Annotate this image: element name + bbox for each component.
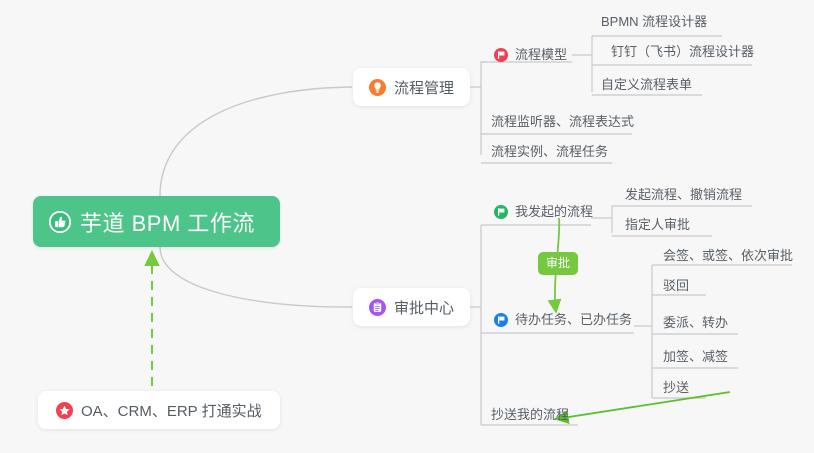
flag-icon [494, 48, 508, 62]
node-label: 我发起的流程 [515, 203, 593, 220]
node-todo-done-tasks[interactable]: 待办任务、已办任务 [494, 311, 632, 328]
node-label: 流程模型 [515, 46, 567, 63]
node-process-instance[interactable]: 流程实例、流程任务 [491, 143, 608, 160]
node-cc[interactable]: 抄送 [663, 379, 689, 396]
branch-approval-center[interactable]: 审批中心 [353, 288, 470, 326]
node-bpmn-designer[interactable]: BPMN 流程设计器 [601, 13, 707, 30]
approval-tag: 审批 [538, 252, 578, 275]
node-add-remove-sign[interactable]: 加签、减签 [663, 348, 728, 365]
branch-label: 流程管理 [394, 77, 454, 98]
callout-label: OA、CRM、ERP 打通实战 [81, 400, 262, 421]
callout-integration[interactable]: OA、CRM、ERP 打通实战 [38, 391, 280, 429]
thumbs-up-icon [49, 211, 71, 233]
node-start-cancel-process[interactable]: 发起流程、撤销流程 [625, 186, 742, 203]
root-node[interactable]: 芋道 BPM 工作流 [33, 196, 280, 247]
flag-icon [494, 205, 508, 219]
node-custom-form[interactable]: 自定义流程表单 [601, 76, 692, 93]
node-reject[interactable]: 驳回 [663, 277, 689, 294]
node-label: 待办任务、已办任务 [515, 311, 632, 328]
node-my-initiated[interactable]: 我发起的流程 [494, 203, 593, 220]
node-dingtalk-designer[interactable]: 钉钉（飞书）流程设计器 [611, 43, 754, 60]
document-icon [369, 299, 386, 316]
node-process-model[interactable]: 流程模型 [494, 46, 567, 63]
node-delegate-transfer[interactable]: 委派、转办 [663, 314, 728, 331]
root-label: 芋道 BPM 工作流 [80, 206, 255, 238]
branch-label: 审批中心 [394, 297, 454, 318]
flag-icon [494, 313, 508, 327]
node-cc-to-me[interactable]: 抄送我的流程 [491, 406, 569, 423]
node-countersign[interactable]: 会签、或签、依次审批 [663, 247, 793, 264]
star-icon [56, 402, 73, 419]
node-process-listener[interactable]: 流程监听器、流程表达式 [491, 113, 634, 130]
mindmap-canvas: 芋道 BPM 工作流 流程管理 流程模型 BPMN 流程设计器 钉钉（飞书）流程… [0, 0, 814, 453]
node-assigned-approval[interactable]: 指定人审批 [625, 216, 690, 233]
branch-process-management[interactable]: 流程管理 [353, 68, 470, 106]
lightbulb-icon [369, 79, 386, 96]
